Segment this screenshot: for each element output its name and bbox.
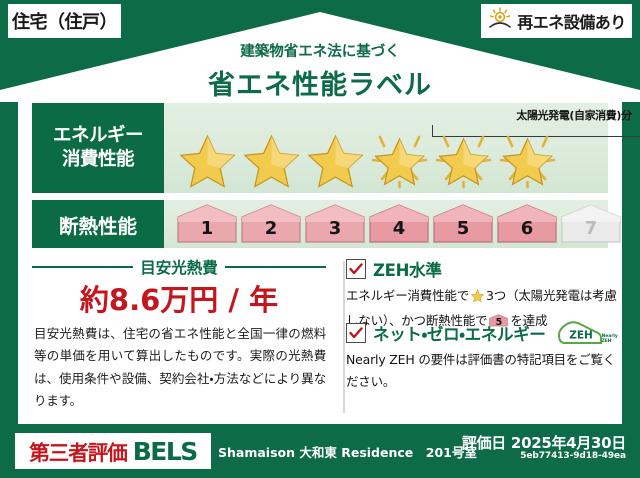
insulation-level-badge: 3 (304, 204, 366, 244)
insulation-level-badge: 6 (496, 204, 558, 244)
solar-bracket-label: 太陽光発電(自家消費)分 (420, 107, 640, 123)
net-zero-energy-heading: ネット・ゼロ・エネルギー ZEH Nearly ZEH (346, 321, 618, 345)
star-icon (176, 127, 239, 191)
utility-cost-amount: 約8.6万円 / 年 (18, 277, 340, 319)
label-title-sub: 建築物省エネ法に基づく (0, 40, 640, 61)
star-icon (240, 127, 303, 191)
insulation-level-number: 6 (496, 218, 558, 239)
zeh-section: ZEH水準 エネルギー消費性能で3つ（太陽光発電は考慮しない）、かつ断熱性能で5… (340, 253, 622, 424)
utility-cost-note: 目安光熱費は、住宅の省エネ性能と全国一律の燃料等の単価を用いて算出したものです。… (34, 323, 326, 412)
energy-performance-value: 太陽光発電(自家消費)分 (164, 103, 608, 193)
property-name: Shamaison 大和東 Residence 201号室 (218, 442, 477, 461)
insulation-level-number: 7 (560, 218, 622, 239)
star-solar-icon (432, 127, 495, 191)
svg-text:ZEH: ZEH (569, 330, 593, 342)
insulation-level-badge: 5 (432, 204, 494, 244)
label-title-block: 建築物省エネ法に基づく 省エネ性能ラベル (0, 40, 640, 102)
label-lower-section: 目安光熱費 約8.6万円 / 年 目安光熱費は、住宅の省エネ性能と全国一律の燃料… (18, 253, 622, 424)
renewable-badge-label: 再エネ設備あり (517, 9, 626, 33)
insulation-level-badge: 2 (240, 204, 302, 244)
bels-en-label: BELS (133, 437, 197, 466)
insulation-performance-key: 断熱性能 (32, 200, 164, 248)
checkbox-checked-icon (346, 259, 366, 279)
net-zero-energy-body: Nearly ZEH の要件は評価書の特記項目をご覧ください。 (346, 349, 618, 392)
bels-jp-label: 第三者評価 (29, 436, 127, 466)
zeh-standard-block: ZEH水準 エネルギー消費性能で3つ（太陽光発電は考慮しない）、かつ断熱性能で5… (346, 257, 618, 331)
insulation-level-number: 2 (240, 218, 302, 239)
insulation-level-list: 1 2 3 (176, 204, 622, 244)
checkbox-checked-icon (346, 323, 366, 343)
heading-rule-left (32, 266, 133, 268)
utility-cost-heading: 目安光熱費 (32, 257, 326, 277)
insulation-level-number: 5 (432, 218, 494, 239)
label-footer: 第三者評価 BELS Shamaison 大和東 Residence 201号室… (0, 424, 640, 478)
energy-performance-key: エネルギー 消費性能 (32, 103, 164, 193)
insulation-level-badge: 1 (176, 204, 238, 244)
heading-rule-right (225, 266, 326, 268)
dwelling-type-badge: 住宅（住戸） (8, 4, 121, 38)
net-zero-energy-title: ネット・ゼロ・エネルギー (373, 321, 546, 345)
zeh-house-logo: ZEH Nearly ZEH (557, 321, 603, 345)
label-card: エネルギー 消費性能 太陽光発電(自家消費)分 (18, 97, 622, 424)
evaluation-id: 5eb77413-9d18-49ea (520, 451, 626, 461)
energy-key-line1: エネルギー (53, 124, 143, 148)
energy-performance-label: 建築物省エネ法に基づく 省エネ性能ラベル 住宅（住戸） 再エネ設備あり (0, 0, 640, 478)
star-solar-icon (496, 127, 559, 191)
bels-certification-badge: 第三者評価 BELS (15, 433, 211, 469)
star-icon (470, 288, 485, 310)
utility-cost-section: 目安光熱費 約8.6万円 / 年 目安光熱費は、住宅の省エネ性能と全国一律の燃料… (18, 253, 340, 424)
star-solar-icon (368, 127, 431, 191)
insulation-level-badge-inactive: 7 (560, 204, 622, 244)
zeh-logo-sub-line2: ZEH (602, 339, 612, 344)
zeh-standard-title: ZEH水準 (373, 257, 442, 281)
energy-star-rating (176, 127, 559, 191)
insulation-level-number: 1 (176, 218, 238, 239)
zeh-standard-heading: ZEH水準 (346, 257, 618, 281)
insulation-performance-value: 1 2 3 (164, 200, 608, 248)
sun-solar-icon (487, 6, 513, 36)
net-zero-energy-block: ネット・ゼロ・エネルギー ZEH Nearly ZEH (346, 321, 618, 392)
energy-key-line2: 消費性能 (62, 148, 134, 172)
zeh-logo-subtext: Nearly ZEH (602, 334, 619, 344)
energy-performance-row: エネルギー 消費性能 太陽光発電(自家消費)分 (32, 103, 608, 193)
star-icon (304, 127, 367, 191)
insulation-level-badge: 4 (368, 204, 430, 244)
insulation-level-number: 4 (368, 218, 430, 239)
evaluation-date: 評価日 2025年4月30日 (462, 432, 626, 453)
insulation-level-number: 3 (304, 218, 366, 239)
utility-cost-heading-label: 目安光熱費 (140, 256, 218, 278)
insulation-performance-row: 断熱性能 1 2 (32, 200, 608, 248)
renewable-equipment-badge: 再エネ設備あり (481, 4, 632, 38)
zeh-body-part1: エネルギー消費性能で (346, 288, 469, 303)
